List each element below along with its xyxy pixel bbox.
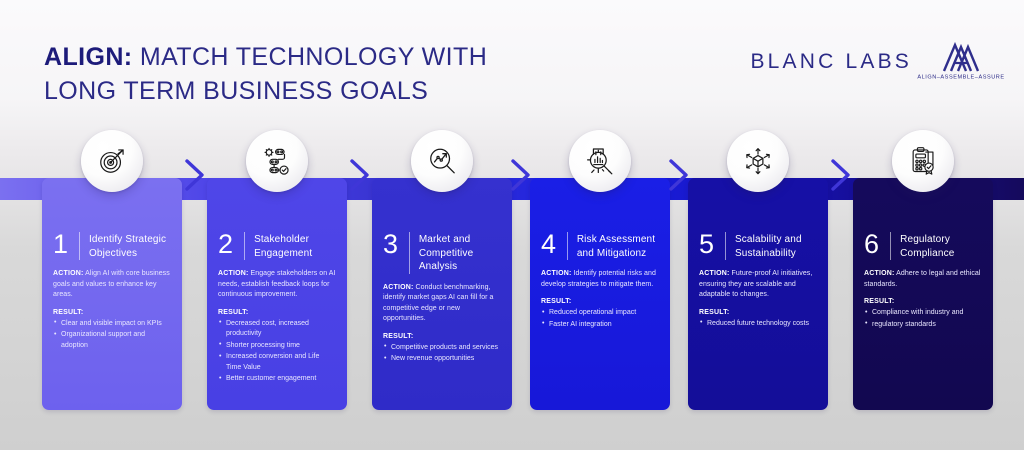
step-divider <box>567 232 568 260</box>
step-title: Scalability and Sustainability <box>735 232 817 260</box>
result-item: Compliance with industry and <box>864 308 982 319</box>
magnifier-trend-icon <box>427 146 457 176</box>
result-item: Reduced future technology costs <box>699 319 817 330</box>
result-list: Reduced future technology costs <box>699 319 817 330</box>
process-step-card[interactable]: 5 Scalability and Sustainability ACTION:… <box>688 178 828 410</box>
action-text: ACTION: Adhere to legal and ethical stan… <box>864 269 982 290</box>
action-label: ACTION: <box>864 270 895 277</box>
action-label: ACTION: <box>218 270 249 277</box>
action-label: ACTION: <box>53 270 84 277</box>
result-block: RESULT: Competitive products and service… <box>383 333 501 365</box>
result-item: Better customer engagement <box>218 374 336 385</box>
step-icon-bubble <box>81 130 143 192</box>
action-block: ACTION: Align AI with core business goal… <box>53 269 171 301</box>
process-step-card[interactable]: 6 Regulatory Compliance ACTION: Adhere t… <box>853 178 993 410</box>
brand-monogram-tagline: ALIGN–ASSEMBLE–ASSURE <box>907 74 1016 80</box>
step-arrow-icon <box>828 158 854 197</box>
step-divider <box>725 232 726 260</box>
step-number: 4 <box>541 232 567 257</box>
result-label: RESULT: <box>541 298 659 305</box>
result-block: RESULT: Decreased cost, increased produc… <box>218 309 336 385</box>
result-list: Clear and visible impact on KPIsOrganiza… <box>53 319 171 352</box>
result-item: Reduced operational impact <box>541 308 659 319</box>
step-title: Regulatory Compliance <box>900 232 982 260</box>
action-block: ACTION: Identify potential risks and dev… <box>541 269 659 290</box>
step-icon-bubble <box>727 130 789 192</box>
step-icon-bubble <box>892 130 954 192</box>
page-title: ALIGN: MATCH TECHNOLOGY WITH LONG TERM B… <box>44 40 564 108</box>
action-block: ACTION: Adhere to legal and ethical stan… <box>864 269 982 290</box>
result-list: Competitive products and servicesNew rev… <box>383 343 501 365</box>
result-list: Reduced operational impactFaster AI inte… <box>541 308 659 330</box>
workflow-gear-check-icon <box>262 146 292 176</box>
process-step-card[interactable]: 1 Identify Strategic Objectives ACTION: … <box>42 178 182 410</box>
result-item: regulatory standards <box>864 320 982 331</box>
action-text: ACTION: Identify potential risks and dev… <box>541 269 659 290</box>
action-block: ACTION: Future-proof AI initiatives, ens… <box>699 269 817 301</box>
result-block: RESULT: Reduced future technology costs <box>699 309 817 330</box>
step-title: Risk Assessment and Mitigationz <box>577 232 659 260</box>
action-label: ACTION: <box>699 270 730 277</box>
result-label: RESULT: <box>218 309 336 316</box>
step-title: Market and Competitive Analysis <box>419 232 501 274</box>
magnifier-bar-chart-icon <box>585 146 615 176</box>
process-step-card[interactable]: 2 Stakeholder Engagement ACTION: Engage … <box>207 178 347 410</box>
result-item: Organizational support and adoption <box>53 330 171 351</box>
step-icon-bubble <box>246 130 308 192</box>
result-item: Clear and visible impact on KPIs <box>53 319 171 330</box>
brand-wordmark: BLANC LABS <box>750 50 912 74</box>
card-header: 3 Market and Competitive Analysis <box>383 232 501 274</box>
result-item: Increased conversion and Life Time Value <box>218 352 336 373</box>
step-number: 2 <box>218 232 244 257</box>
step-number: 5 <box>699 232 725 257</box>
step-arrow-icon <box>347 158 373 197</box>
step-divider <box>244 232 245 260</box>
step-title: Identify Strategic Objectives <box>89 232 171 260</box>
action-text: ACTION: Future-proof AI initiatives, ens… <box>699 269 817 301</box>
brand-monogram: ALIGN–ASSEMBLE–ASSURE <box>926 42 996 78</box>
card-header: 6 Regulatory Compliance <box>864 232 982 260</box>
process-step-card[interactable]: 3 Market and Competitive Analysis ACTION… <box>372 178 512 410</box>
step-arrow-icon <box>666 158 692 197</box>
card-header: 1 Identify Strategic Objectives <box>53 232 171 260</box>
step-divider <box>890 232 891 260</box>
step-arrow-icon <box>182 158 208 197</box>
step-divider <box>409 232 410 274</box>
result-list: Compliance with industry andregulatory s… <box>864 308 982 330</box>
result-item: Faster AI integration <box>541 320 659 331</box>
result-block: RESULT: Clear and visible impact on KPIs… <box>53 309 171 352</box>
result-label: RESULT: <box>53 309 171 316</box>
result-label: RESULT: <box>864 298 982 305</box>
step-number: 3 <box>383 232 409 257</box>
action-block: ACTION: Conduct benchmarking, identify m… <box>383 283 501 325</box>
action-label: ACTION: <box>541 270 572 277</box>
process-steps: 1 Identify Strategic Objectives ACTION: … <box>0 130 1024 390</box>
result-item: Competitive products and services <box>383 343 501 354</box>
result-block: RESULT: Reduced operational impactFaster… <box>541 298 659 330</box>
action-text: ACTION: Conduct benchmarking, identify m… <box>383 283 501 325</box>
step-number: 6 <box>864 232 890 257</box>
page-title-accent: ALIGN: <box>44 43 133 71</box>
target-arrow-icon <box>97 146 127 176</box>
header: ALIGN: MATCH TECHNOLOGY WITH LONG TERM B… <box>0 0 1024 130</box>
card-header: 2 Stakeholder Engagement <box>218 232 336 260</box>
result-label: RESULT: <box>383 333 501 340</box>
brand-name: BLANC LABS <box>750 50 912 74</box>
step-number: 1 <box>53 232 79 257</box>
cube-expand-arrows-icon <box>743 146 773 176</box>
a-monogram-icon <box>926 42 996 72</box>
card-header: 5 Scalability and Sustainability <box>699 232 817 260</box>
action-text: ACTION: Align AI with core business goal… <box>53 269 171 301</box>
result-item: Decreased cost, increased productivity <box>218 319 336 340</box>
compliance-clipboard-seal-icon <box>908 146 938 176</box>
result-item: New revenue opportunities <box>383 354 501 365</box>
step-title: Stakeholder Engagement <box>254 232 336 260</box>
page-title-line2: LONG TERM BUSINESS GOALS <box>44 74 564 108</box>
step-icon-bubble <box>569 130 631 192</box>
step-divider <box>79 232 80 260</box>
process-step-card[interactable]: 4 Risk Assessment and Mitigationz ACTION… <box>530 178 670 410</box>
result-block: RESULT: Compliance with industry andregu… <box>864 298 982 330</box>
result-list: Decreased cost, increased productivitySh… <box>218 319 336 385</box>
step-icon-bubble <box>411 130 473 192</box>
action-block: ACTION: Engage stakeholders on AI needs,… <box>218 269 336 301</box>
action-label: ACTION: <box>383 284 414 291</box>
card-header: 4 Risk Assessment and Mitigationz <box>541 232 659 260</box>
result-item: Shorter processing time <box>218 341 336 352</box>
step-arrow-icon <box>508 158 534 197</box>
page-title-rest: MATCH TECHNOLOGY WITH <box>133 43 488 71</box>
result-label: RESULT: <box>699 309 817 316</box>
action-text: ACTION: Engage stakeholders on AI needs,… <box>218 269 336 301</box>
